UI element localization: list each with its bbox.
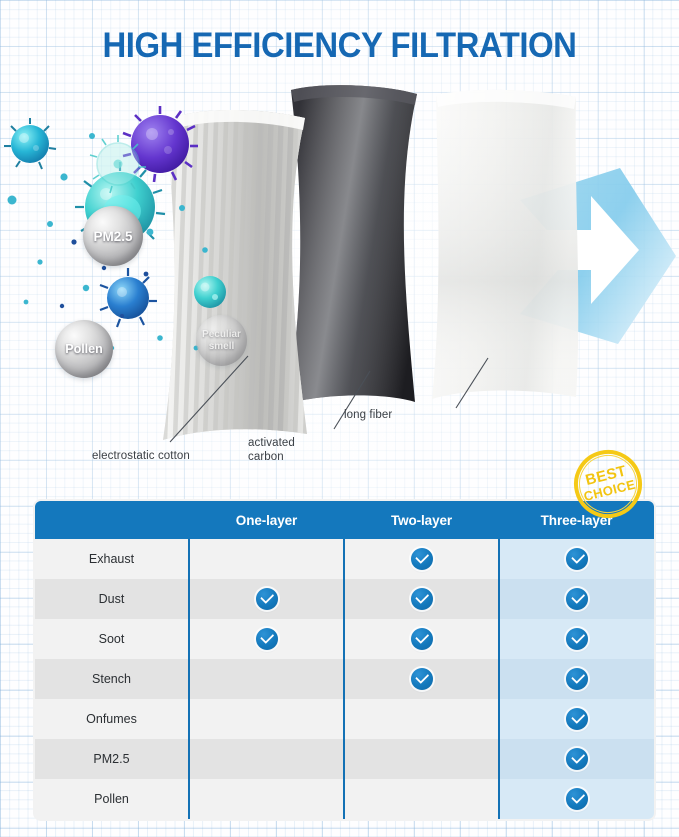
table-header-row: One-layer Two-layer Three-layer	[34, 500, 655, 539]
cell-stench-two-layer	[344, 659, 499, 699]
callout-leader-carbon	[326, 367, 376, 437]
cell-pollen-three-layer	[499, 779, 655, 820]
check-icon	[256, 628, 278, 650]
cell-pollen-one-layer	[189, 779, 344, 820]
page-title: HIGH EFFICIENCY FILTRATION	[20, 25, 658, 67]
filter-layers-illustration: PM2.5 Peculiar smell Pollen electrostati…	[0, 72, 679, 492]
cell-exhaust-two-layer	[344, 539, 499, 579]
cell-dust-three-layer	[499, 579, 655, 619]
cell-soot-two-layer	[344, 619, 499, 659]
particle-sphere-peculiar-smell-label: Peculiar smell	[196, 329, 247, 353]
row-label-soot: Soot	[34, 619, 189, 659]
row-label-pollen: Pollen	[34, 779, 189, 820]
row-label-stench: Stench	[34, 659, 189, 699]
table-row: Onfumes	[34, 699, 655, 739]
cell-onfumes-two-layer	[344, 699, 499, 739]
check-icon	[566, 628, 588, 650]
check-icon	[566, 588, 588, 610]
particle-sphere-pollen: Pollen	[55, 320, 113, 378]
check-icon	[256, 588, 278, 610]
check-icon	[411, 548, 433, 570]
callout-leader-cotton	[150, 352, 260, 452]
cell-onfumes-one-layer	[189, 699, 344, 739]
particle-sphere-pm25-label: PM2.5	[93, 229, 132, 244]
cell-stench-one-layer	[189, 659, 344, 699]
column-header-one-layer[interactable]: One-layer	[189, 500, 344, 539]
callout-leader-fiber	[448, 354, 494, 414]
check-icon	[411, 668, 433, 690]
table-row: Soot	[34, 619, 655, 659]
cell-soot-three-layer	[499, 619, 655, 659]
cell-exhaust-three-layer	[499, 539, 655, 579]
check-icon	[566, 668, 588, 690]
comparison-table: One-layer Two-layer Three-layer ExhaustD…	[33, 499, 656, 821]
callout-label-cotton: electrostatic cotton	[92, 449, 202, 463]
callout-label-fiber: long fiber	[344, 408, 434, 422]
cell-dust-two-layer	[344, 579, 499, 619]
callout-label-carbon: activated carbon	[248, 436, 318, 464]
check-icon	[566, 708, 588, 730]
cell-soot-one-layer	[189, 619, 344, 659]
particle-sphere-pm25: PM2.5	[83, 206, 143, 266]
check-icon	[566, 748, 588, 770]
table-row: Pollen	[34, 779, 655, 820]
comparison-table-wrapper: One-layer Two-layer Three-layer ExhaustD…	[33, 499, 645, 812]
row-label-exhaust: Exhaust	[34, 539, 189, 579]
check-icon	[566, 548, 588, 570]
table-row: Dust	[34, 579, 655, 619]
check-icon	[411, 628, 433, 650]
row-label-dust: Dust	[34, 579, 189, 619]
cell-dust-one-layer	[189, 579, 344, 619]
table-row: PM2.5	[34, 739, 655, 779]
table-row: Exhaust	[34, 539, 655, 579]
column-header-two-layer[interactable]: Two-layer	[344, 500, 499, 539]
product-infographic: HIGH EFFICIENCY FILTRATION	[0, 0, 679, 837]
row-label-onfumes: Onfumes	[34, 699, 189, 739]
check-icon	[566, 788, 588, 810]
table-body: ExhaustDustSootStenchOnfumesPM2.5Pollen	[34, 539, 655, 820]
particle-sphere-pollen-label: Pollen	[65, 342, 103, 356]
cell-stench-three-layer	[499, 659, 655, 699]
cell-pm2-5-three-layer	[499, 739, 655, 779]
cell-pollen-two-layer	[344, 779, 499, 820]
cell-onfumes-three-layer	[499, 699, 655, 739]
cell-exhaust-one-layer	[189, 539, 344, 579]
table-row: Stench	[34, 659, 655, 699]
check-icon	[411, 588, 433, 610]
table-head: One-layer Two-layer Three-layer	[34, 500, 655, 539]
cell-pm2-5-one-layer	[189, 739, 344, 779]
row-label-pm2-5: PM2.5	[34, 739, 189, 779]
cell-pm2-5-two-layer	[344, 739, 499, 779]
table-corner-cell	[34, 500, 189, 539]
